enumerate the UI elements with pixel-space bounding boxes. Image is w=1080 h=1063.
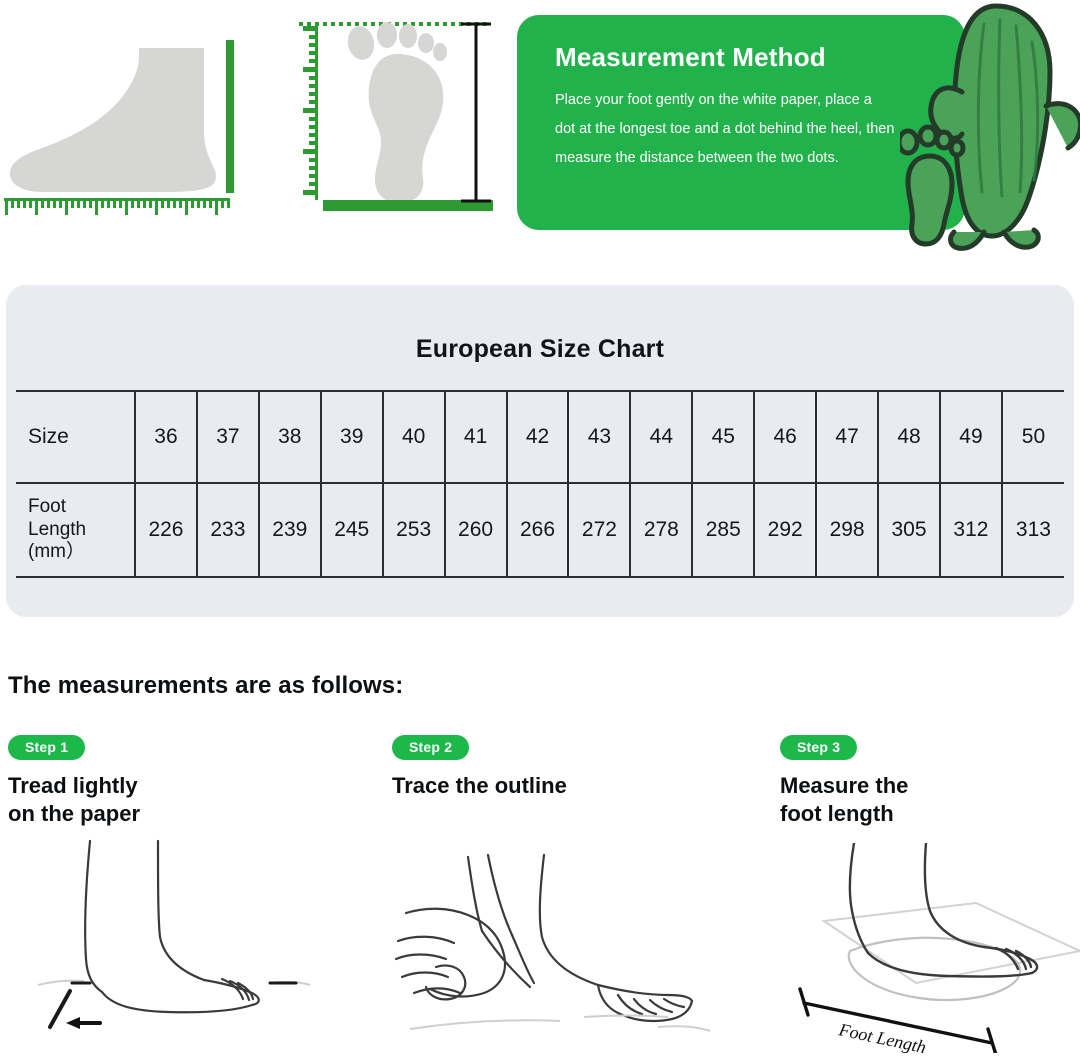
cell-size: 48 xyxy=(878,391,940,483)
cell-size: 42 xyxy=(507,391,569,483)
step-card-2: Step 2 Trace the outline xyxy=(392,735,752,800)
footprint-sole-icon xyxy=(369,54,444,203)
step-badge-2: Step 2 xyxy=(392,735,469,760)
cell-foot-length: 253 xyxy=(383,483,445,577)
cell-size: 39 xyxy=(321,391,383,483)
method-card-body: Place your foot gently on the white pape… xyxy=(555,86,895,173)
arrow-icon xyxy=(66,1017,100,1029)
cell-foot-length: 245 xyxy=(321,483,383,577)
step-badge-3: Step 3 xyxy=(780,735,857,760)
step-3-illustration: Foot Length xyxy=(780,843,1080,1053)
cell-size: 45 xyxy=(692,391,754,483)
vertical-measure-bar xyxy=(226,40,234,193)
cactus-mascot-icon xyxy=(900,0,1080,264)
vertical-ruler-icon xyxy=(303,24,318,200)
measurement-method-card: Measurement Method Place your foot gentl… xyxy=(517,15,965,230)
cell-size: 41 xyxy=(445,391,507,483)
table-row-foot-length: Foot Length (mm） 226 233 239 245 253 260… xyxy=(16,483,1064,577)
cell-foot-length: 278 xyxy=(630,483,692,577)
cell-foot-length: 272 xyxy=(568,483,630,577)
side-foot-diagram xyxy=(0,12,262,238)
footprint-diagram xyxy=(285,10,503,238)
row-label-size: Size xyxy=(16,391,135,483)
cell-foot-length: 313 xyxy=(1002,483,1064,577)
toe-icon xyxy=(399,24,417,48)
foot-silhouette-icon xyxy=(10,48,216,192)
cell-foot-length: 312 xyxy=(940,483,1002,577)
cell-foot-length: 285 xyxy=(692,483,754,577)
cell-size: 40 xyxy=(383,391,445,483)
cell-foot-length: 226 xyxy=(135,483,197,577)
top-illustration-section: Measurement Method Place your foot gentl… xyxy=(0,0,1080,268)
step-card-1: Step 1 Tread lightly on the paper xyxy=(8,735,368,827)
measure-line-icon xyxy=(461,24,491,201)
step-title-3: Measure the foot length xyxy=(780,772,1080,827)
cell-size: 47 xyxy=(816,391,878,483)
cell-foot-length: 305 xyxy=(878,483,940,577)
row-label-foot-length: Foot Length (mm） xyxy=(16,483,135,577)
table-row-size: Size 36 37 38 39 40 41 42 43 44 45 46 47… xyxy=(16,391,1064,483)
cell-size: 43 xyxy=(568,391,630,483)
cell-size: 36 xyxy=(135,391,197,483)
toe-icon xyxy=(418,33,434,53)
step-title-2: Trace the outline xyxy=(392,772,752,800)
steps-section-heading: The measurements are as follows: xyxy=(8,672,403,700)
cell-foot-length: 260 xyxy=(445,483,507,577)
step-2-illustration xyxy=(392,845,732,1055)
cell-size: 46 xyxy=(754,391,816,483)
cell-size: 49 xyxy=(940,391,1002,483)
cell-size: 50 xyxy=(1002,391,1064,483)
toe-icon xyxy=(433,43,447,61)
step-1-illustration xyxy=(8,835,348,1045)
cell-size: 37 xyxy=(197,391,259,483)
step-badge-1: Step 1 xyxy=(8,735,85,760)
toe-icon xyxy=(345,24,378,63)
size-chart-panel: European Size Chart Size 36 37 38 39 40 … xyxy=(6,285,1074,617)
cell-size: 38 xyxy=(259,391,321,483)
horizontal-ruler-icon xyxy=(4,198,230,215)
cell-foot-length: 292 xyxy=(754,483,816,577)
step-title-1: Tread lightly on the paper xyxy=(8,772,368,827)
cell-foot-length: 266 xyxy=(507,483,569,577)
cactus-footprint-icon xyxy=(900,127,963,244)
cell-foot-length: 298 xyxy=(816,483,878,577)
page-title: European Size Chart xyxy=(6,285,1074,364)
cell-size: 44 xyxy=(630,391,692,483)
cell-foot-length: 239 xyxy=(259,483,321,577)
method-card-title: Measurement Method xyxy=(555,43,931,72)
step-card-3: Step 3 Measure the foot length xyxy=(780,735,1080,827)
foot-length-caption: Foot Length xyxy=(836,1019,928,1053)
cell-foot-length: 233 xyxy=(197,483,259,577)
toe-icon xyxy=(377,22,397,48)
size-table-container: Size 36 37 38 39 40 41 42 43 44 45 46 47… xyxy=(16,390,1064,578)
european-size-table: Size 36 37 38 39 40 41 42 43 44 45 46 47… xyxy=(16,390,1064,578)
